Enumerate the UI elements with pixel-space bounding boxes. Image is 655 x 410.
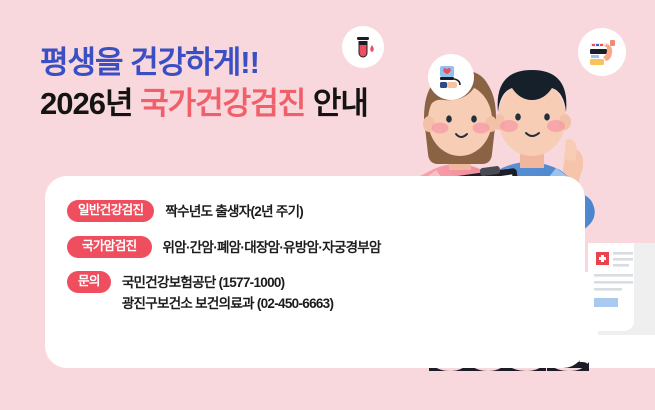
headline-line-2: 2026년 국가건강검진 안내: [40, 85, 460, 124]
info-line: 짝수년도 출생자(2년 주기): [165, 202, 303, 223]
medical-report-icon: [588, 243, 655, 335]
headline-year: 2026년: [40, 86, 132, 121]
info-card: 일반건강검진 짝수년도 출생자(2년 주기) 국가암검진 위암·간암·폐암·대장…: [45, 176, 585, 368]
contact-line-health-center: 광진구보건소 보건의료과 (02-450-6663): [122, 294, 333, 315]
info-text-cancer-screening: 위암·간암·폐암·대장암·유방암·자궁경부암: [163, 236, 381, 259]
health-checkup-banner: 평생을 건강하게!! 2026년 국가건강검진 안내 일반건강검진 짝수년도 출…: [0, 0, 655, 410]
info-row-cancer-screening: 국가암검진 위암·간암·폐암·대장암·유방암·자궁경부암: [67, 236, 381, 259]
info-row-general-checkup: 일반건강검진 짝수년도 출생자(2년 주기): [67, 200, 381, 223]
info-row-contact: 문의 국민건강보험공단 (1577-1000) 광진구보건소 보건의료과 (02…: [67, 271, 381, 314]
page-title: 평생을 건강하게!! 2026년 국가건강검진 안내: [40, 44, 460, 124]
urine-test-strip-icon: [578, 28, 626, 76]
contact-line-nhis: 국민건강보험공단 (1577-1000): [122, 273, 333, 294]
headline-tail: 안내: [313, 86, 368, 121]
headline-highlight: 국가건강검진: [140, 86, 305, 121]
info-text-contact: 국민건강보험공단 (1577-1000) 광진구보건소 보건의료과 (02-45…: [122, 271, 333, 314]
badge-contact: 문의: [67, 271, 111, 293]
info-rows: 일반건강검진 짝수년도 출생자(2년 주기) 국가암검진 위암·간암·폐암·대장…: [67, 200, 381, 314]
headline-line-1: 평생을 건강하게!!: [40, 44, 460, 82]
info-text-general-checkup: 짝수년도 출생자(2년 주기): [165, 200, 303, 223]
info-line: 위암·간암·폐암·대장암·유방암·자궁경부암: [163, 238, 381, 259]
badge-general-checkup: 일반건강검진: [67, 200, 154, 222]
badge-cancer-screening: 국가암검진: [67, 236, 152, 258]
